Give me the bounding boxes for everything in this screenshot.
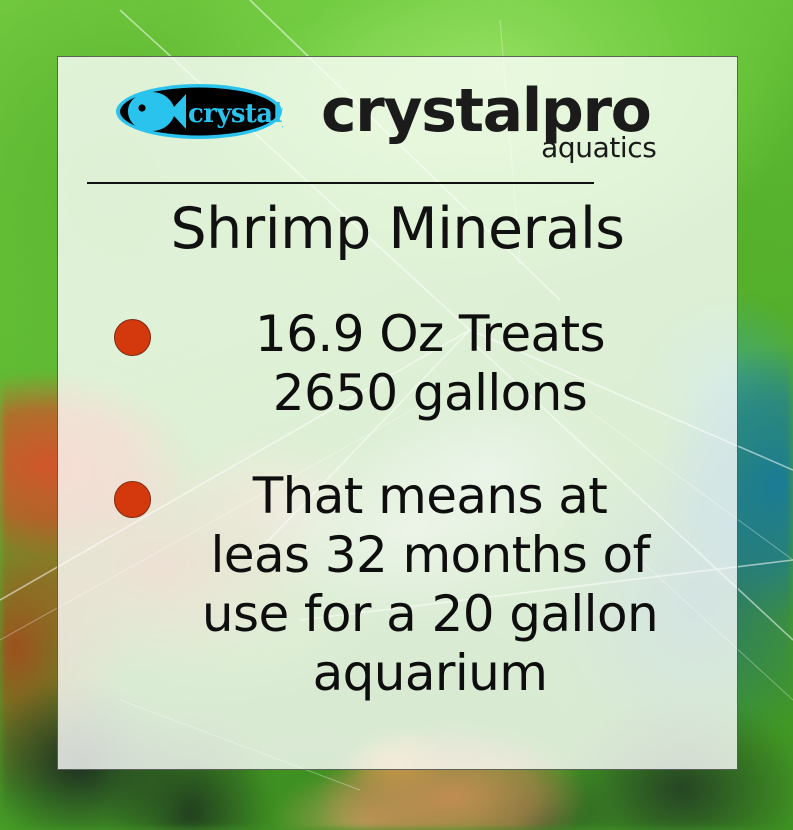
bullet-text: That means at leas 32 months of use for … <box>169 467 713 703</box>
logo-badge-text: crystalpro <box>188 99 283 129</box>
bullet-line: aquarium <box>169 644 691 703</box>
bullet-line: leas 32 months of <box>169 526 691 585</box>
bullet-line: 16.9 Oz Treats <box>169 305 691 364</box>
bullet-list: 16.9 Oz Treats 2650 gallons That means a… <box>58 305 737 703</box>
logo-badge-svg: crystalpro <box>115 83 283 140</box>
brand-wordmark-sub: aquatics <box>541 131 656 164</box>
list-item: 16.9 Oz Treats 2650 gallons <box>114 305 713 423</box>
bullet-line: 2650 gallons <box>169 364 691 423</box>
bullet-text: 16.9 Oz Treats 2650 gallons <box>169 305 713 423</box>
content-panel: crystalpro crystalpro aquatics Shrimp Mi… <box>57 56 738 770</box>
list-item: That means at leas 32 months of use for … <box>114 467 713 703</box>
page-title: Shrimp Minerals <box>170 198 624 261</box>
header-divider <box>87 182 594 184</box>
bullet-line: That means at <box>169 467 691 526</box>
crystalpro-logo-badge: crystalpro <box>115 83 283 140</box>
bullet-line: use for a 20 gallon <box>169 585 691 644</box>
bullet-dot-icon <box>114 481 151 518</box>
brand-wordmark: crystalpro aquatics <box>321 83 650 140</box>
product-infographic: crystalpro crystalpro aquatics Shrimp Mi… <box>0 0 793 830</box>
bullet-dot-icon <box>114 319 151 356</box>
brand-header: crystalpro crystalpro aquatics <box>58 71 737 151</box>
